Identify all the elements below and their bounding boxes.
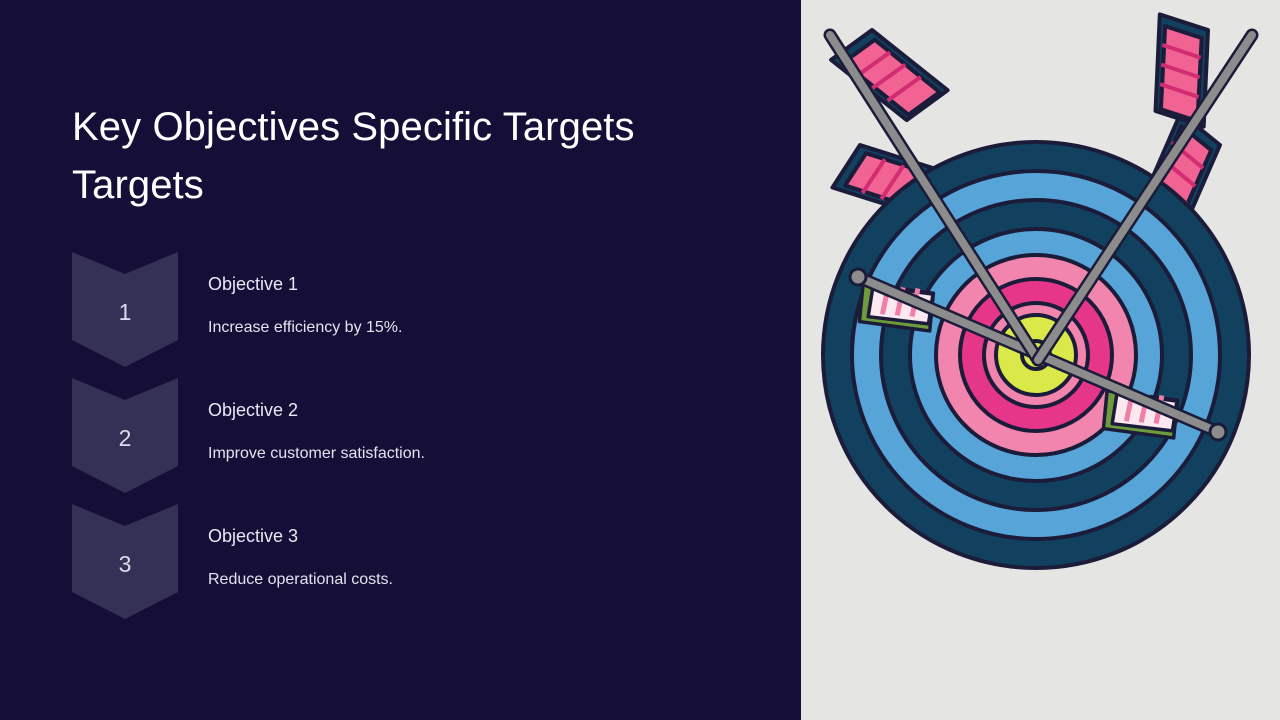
left-content-panel: Key Objectives Specific Targets Targets … [0,0,801,720]
objective-text-block: Objective 3 Reduce operational costs. [208,526,708,590]
illustration-panel [801,0,1280,720]
objective-number: 1 [72,252,178,367]
slide: Key Objectives Specific Targets Targets … [0,0,1280,720]
objective-heading: Objective 3 [208,526,708,548]
archery-target-icon [800,0,1280,720]
page-title: Key Objectives Specific Targets Targets [72,98,732,214]
objective-description: Reduce operational costs. [208,570,708,590]
objective-text-block: Objective 2 Improve customer satisfactio… [208,400,708,464]
objective-number: 3 [72,504,178,619]
objective-heading: Objective 2 [208,400,708,422]
list-item[interactable]: 2 Objective 2 Improve customer satisfact… [72,378,732,504]
objective-text-block: Objective 1 Increase efficiency by 15%. [208,274,708,338]
list-item[interactable]: 3 Objective 3 Reduce operational costs. [72,504,732,630]
list-item[interactable]: 1 Objective 1 Increase efficiency by 15%… [72,252,732,378]
objective-description: Increase efficiency by 15%. [208,318,708,338]
objective-number: 2 [72,378,178,493]
objectives-list: 1 Objective 1 Increase efficiency by 15%… [72,252,732,630]
objective-heading: Objective 1 [208,274,708,296]
objective-description: Improve customer satisfaction. [208,444,708,464]
